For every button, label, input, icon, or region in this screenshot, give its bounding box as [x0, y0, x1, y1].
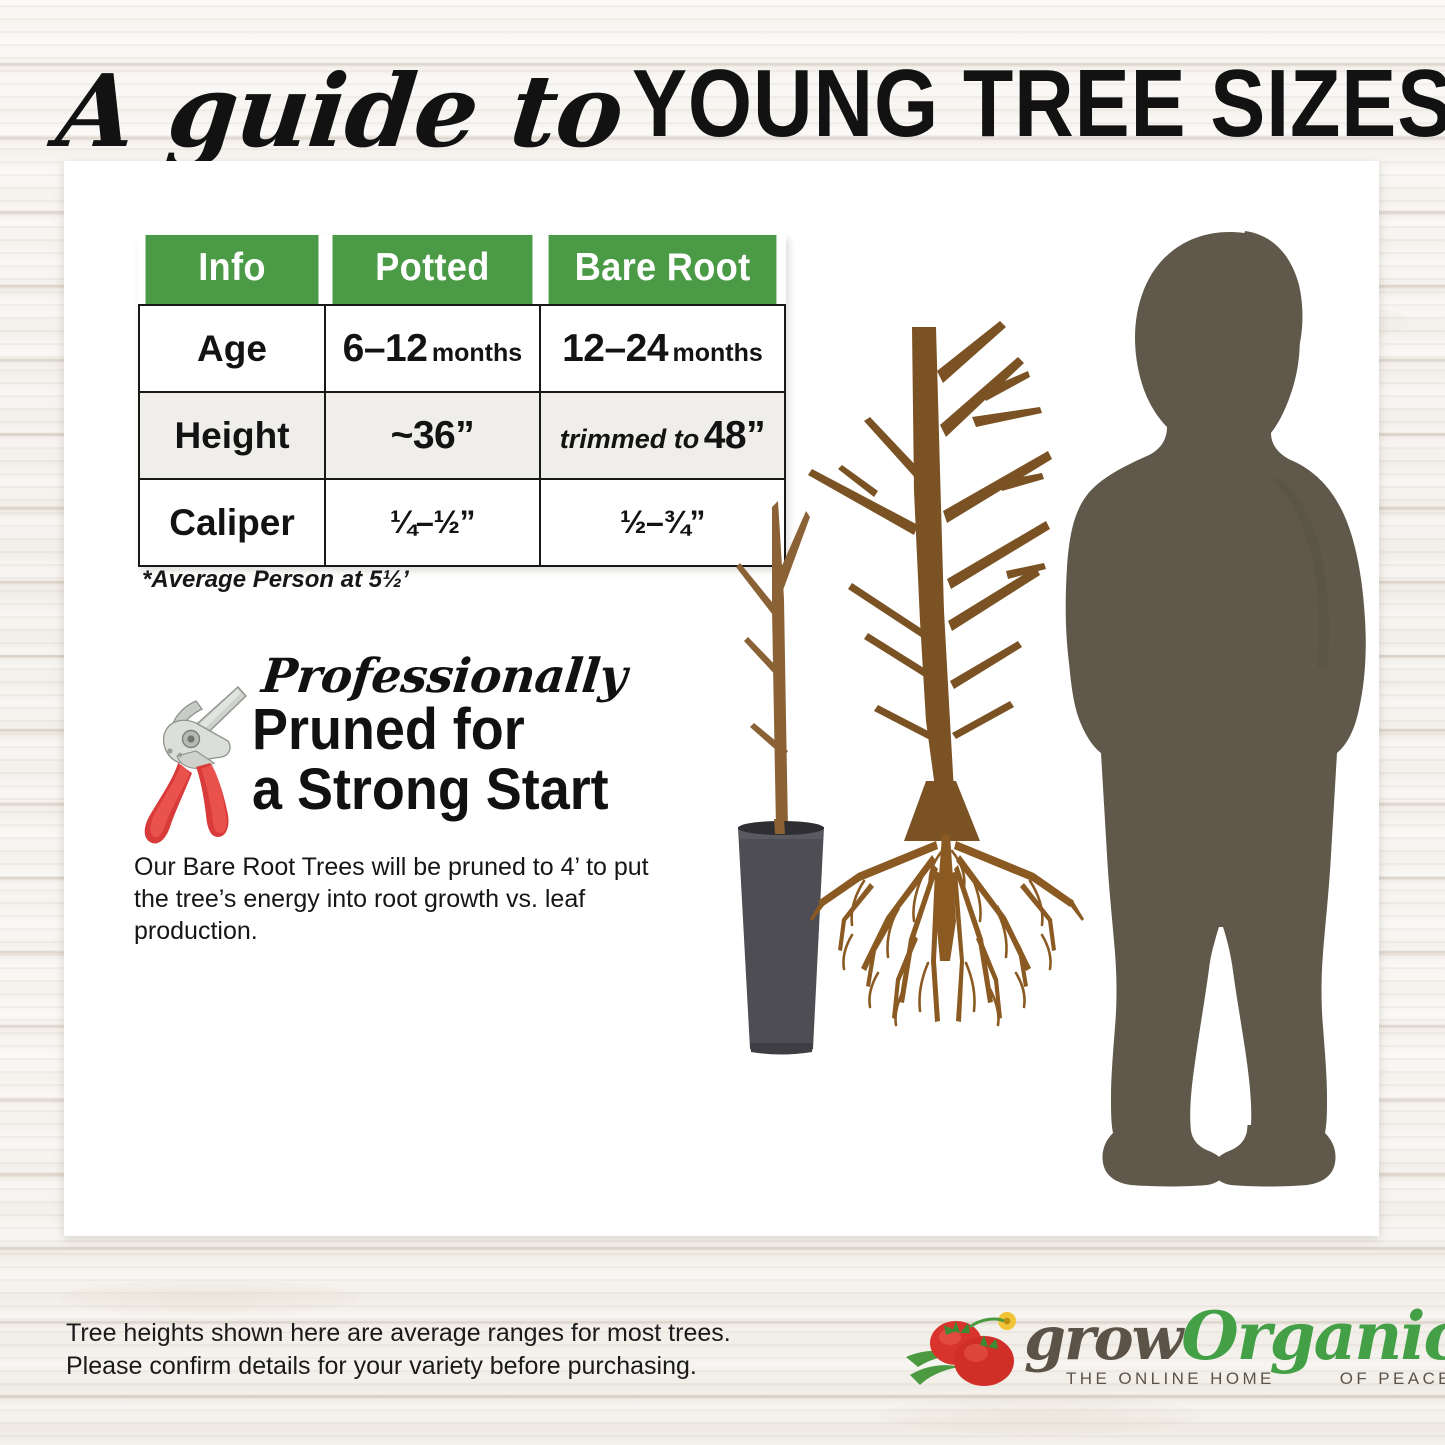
cell-caliper-potted: ¼–½”	[325, 479, 540, 566]
pruning-shears-icon	[134, 663, 254, 853]
logo-word-organic: Organic	[1181, 1297, 1445, 1375]
page-title: A guide toYOUNG TREE SIZES	[58, 48, 1398, 158]
title-block-part: YOUNG TREE SIZES	[632, 49, 1445, 159]
table-footnote: *Average Person at 5½’	[142, 566, 409, 594]
pruned-body-line-2: the tree’s energy into root growth vs. l…	[134, 883, 654, 947]
infographic-canvas: A guide toYOUNG TREE SIZES Info Potted B…	[0, 0, 1445, 1445]
title-script-part: A guide to	[52, 52, 629, 170]
footer-disclaimer: Tree heights shown here are average rang…	[66, 1317, 731, 1384]
table-row-caliper: Caliper ¼–½” ½–¾”	[139, 479, 785, 566]
cell-age-potted-unit: months	[432, 339, 522, 367]
pruned-heading-group: Professionally Pruned for a Strong Start	[252, 653, 692, 819]
cell-caliper-bareroot-value: ½–¾”	[620, 504, 705, 540]
table-row-height: Height ~36” trimmed to 48”	[139, 392, 785, 479]
row-label-height: Height	[139, 392, 325, 479]
column-header-info: Info	[146, 235, 319, 305]
cell-height-potted: ~36”	[325, 392, 540, 479]
column-header-bare-root: Bare Root	[548, 235, 776, 305]
content-card: Info Potted Bare Root Age 6–12 months 12…	[64, 161, 1379, 1236]
pruned-script-line: Professionally	[260, 653, 629, 700]
pruned-body-line-1: Our Bare Root Trees will be pruned to 4’…	[134, 851, 654, 883]
row-label-caliper: Caliper	[139, 479, 325, 566]
cell-height-bareroot-prefix: trimmed to	[560, 424, 700, 454]
table-row-age: Age 6–12 months 12–24 months	[139, 305, 785, 392]
footer-note-line-1: Tree heights shown here are average rang…	[66, 1317, 731, 1350]
cell-age-bareroot-unit: months	[672, 339, 762, 367]
cell-age-potted-value: 6–12	[343, 327, 428, 370]
row-label-age: Age	[139, 305, 325, 392]
footer-note-line-2: Please confirm details for your variety …	[66, 1350, 731, 1383]
grow-organic-logo[interactable]: growOrganic.COM THE ONLINE HOME OF PEACE…	[900, 1305, 1400, 1415]
cell-height-bareroot: trimmed to 48”	[540, 392, 785, 479]
cell-height-bareroot-value: 48”	[704, 414, 765, 457]
tree-size-table: Info Potted Bare Root Age 6–12 months 12…	[138, 235, 786, 567]
pruned-body-text: Our Bare Root Trees will be pruned to 4’…	[134, 851, 654, 947]
pruned-big-line-1: Pruned for	[252, 700, 661, 760]
tomato-icon	[900, 1305, 1030, 1400]
cell-caliper-potted-value: ¼–½”	[390, 504, 475, 540]
person-silhouette	[1049, 227, 1399, 1237]
cell-height-potted-value: ~36”	[391, 414, 475, 457]
cell-age-bareroot-value: 12–24	[562, 327, 668, 370]
cell-age-bareroot: 12–24 months	[540, 305, 785, 392]
cell-age-potted: 6–12 months	[325, 305, 540, 392]
logo-word-grow: grow	[1024, 1304, 1181, 1374]
table-header-row: Info Potted Bare Root	[139, 235, 785, 305]
pruned-big-line-2: a Strong Start	[252, 760, 661, 820]
column-header-potted: Potted	[333, 235, 533, 305]
logo-tagline: THE ONLINE HOME OF PEACEFUL VALLEY	[1066, 1369, 1445, 1389]
